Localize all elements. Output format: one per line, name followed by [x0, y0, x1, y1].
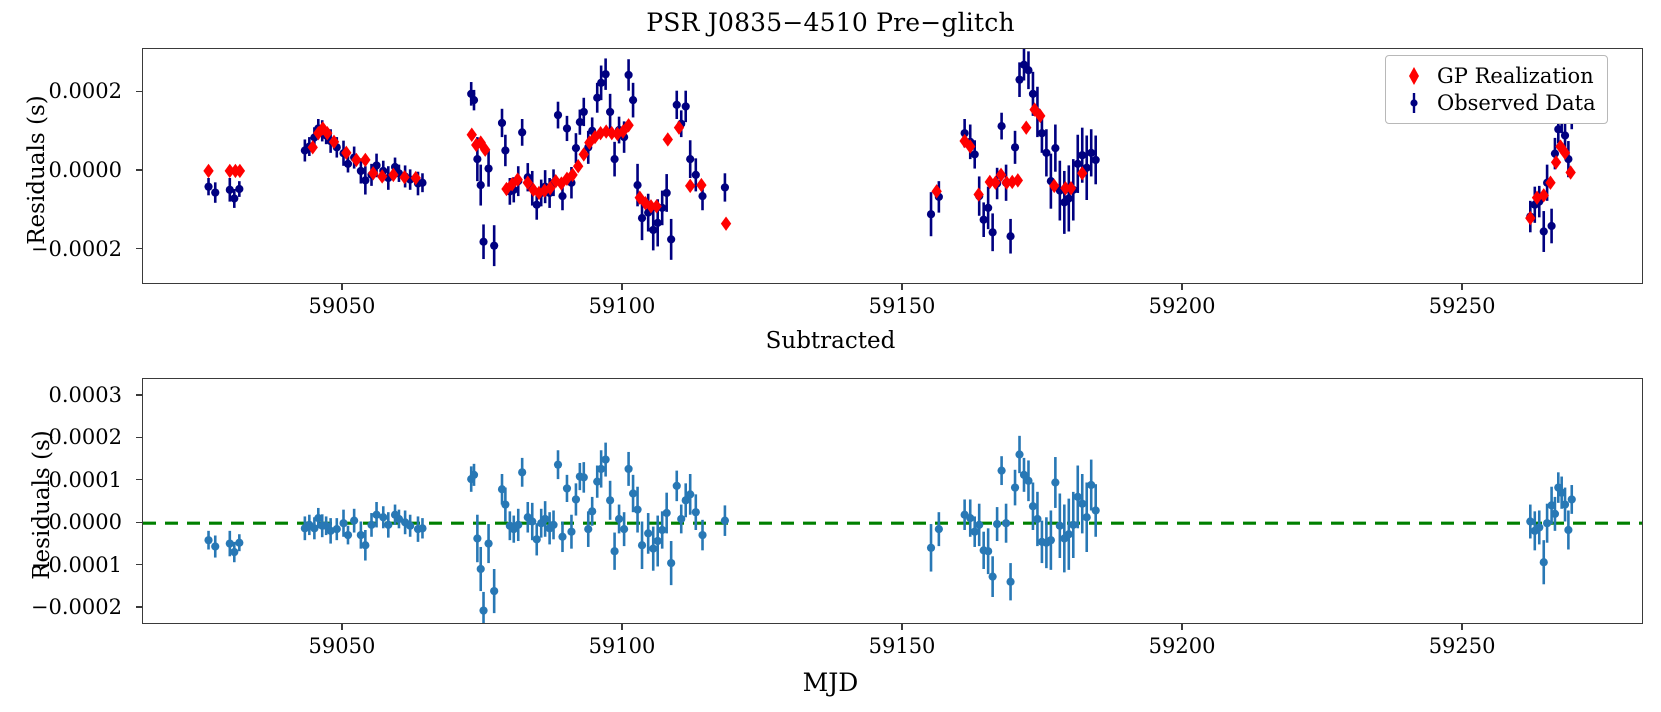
data-point — [673, 101, 681, 109]
data-point — [361, 176, 369, 184]
x-tick-mark — [1181, 624, 1182, 630]
data-point — [230, 194, 238, 202]
data-point — [501, 146, 509, 154]
data-point — [344, 160, 352, 168]
data-point — [1015, 450, 1023, 458]
data-point — [1069, 521, 1077, 529]
data-point — [1024, 477, 1032, 485]
data-point — [1051, 478, 1059, 486]
legend-label-gp-realization: GP Realization — [1431, 64, 1594, 88]
data-point — [484, 164, 492, 172]
data-point — [610, 155, 618, 163]
data-point — [1074, 493, 1082, 501]
data-point — [649, 226, 657, 234]
data-point — [1006, 232, 1014, 240]
data-point — [1065, 194, 1073, 202]
data-point — [226, 186, 234, 194]
y-tick-label: −0.0001 — [31, 553, 122, 577]
data-point — [1092, 156, 1100, 164]
data-point — [1029, 90, 1037, 98]
data-point — [514, 521, 522, 529]
data-point — [1002, 519, 1010, 527]
data-point — [572, 144, 580, 152]
data-point — [484, 539, 492, 547]
data-point — [528, 517, 536, 525]
data-point — [235, 185, 243, 193]
data-point — [629, 489, 637, 497]
data-point — [563, 484, 571, 492]
data-point — [501, 500, 509, 508]
series-subtracted-residuals — [204, 436, 1575, 624]
data-point — [211, 542, 219, 550]
data-point — [698, 531, 706, 539]
data-point — [1024, 66, 1032, 74]
data-point — [1564, 526, 1572, 534]
y-tick-label: 0.0003 — [49, 383, 122, 407]
data-point — [971, 528, 979, 536]
data-point — [633, 506, 641, 514]
data-point — [477, 181, 485, 189]
data-point — [498, 119, 506, 127]
x-tick-label: 59050 — [309, 634, 376, 658]
data-point — [624, 465, 632, 473]
data-point — [993, 520, 1001, 528]
data-point — [927, 544, 935, 552]
data-point — [406, 522, 414, 530]
data-point — [682, 102, 690, 110]
data-point — [518, 468, 526, 476]
data-point — [686, 490, 694, 498]
errorbar-point-icon — [1397, 90, 1431, 116]
data-point — [584, 525, 592, 533]
data-point-diamond — [203, 164, 213, 178]
x-tick-mark — [341, 624, 342, 630]
data-point — [558, 533, 566, 541]
data-point — [638, 214, 646, 222]
y-tick-label: 0.0001 — [49, 468, 122, 492]
data-point — [1092, 506, 1100, 514]
data-point — [624, 71, 632, 79]
data-point — [1551, 510, 1559, 518]
data-point — [1011, 143, 1019, 151]
data-point — [361, 541, 369, 549]
data-point — [470, 96, 478, 104]
data-point — [211, 188, 219, 196]
data-point — [1042, 149, 1050, 157]
x-tick-mark — [1181, 284, 1182, 290]
data-point — [677, 515, 685, 523]
data-point — [554, 461, 562, 469]
data-point — [1547, 222, 1555, 230]
x-tick-label: 59200 — [1149, 294, 1216, 318]
data-point — [1540, 558, 1548, 566]
x-axis-label: MJD — [0, 668, 1661, 697]
data-point — [204, 536, 212, 544]
data-point — [357, 167, 365, 175]
data-point — [470, 471, 478, 479]
data-point — [1015, 76, 1023, 84]
data-point-diamond — [696, 178, 706, 192]
data-point — [204, 183, 212, 191]
data-point-diamond — [1021, 120, 1031, 134]
data-point — [1087, 481, 1095, 489]
data-point — [989, 573, 997, 581]
data-point — [580, 108, 588, 116]
data-point — [975, 521, 983, 529]
data-point — [692, 171, 700, 179]
legend-item-gp-realization[interactable]: GP Realization — [1397, 62, 1596, 89]
data-point — [563, 124, 571, 132]
x-tick-label: 59150 — [869, 294, 936, 318]
data-point — [477, 565, 485, 573]
data-point — [473, 155, 481, 163]
data-point — [721, 183, 729, 191]
data-point — [533, 535, 541, 543]
data-point — [1083, 513, 1091, 521]
data-point — [418, 524, 426, 532]
data-point — [572, 495, 580, 503]
data-point — [935, 525, 943, 533]
data-point — [602, 455, 610, 463]
data-point-diamond — [1565, 165, 1575, 179]
data-point — [606, 108, 614, 116]
data-point — [333, 525, 341, 533]
data-point — [658, 526, 666, 534]
data-point — [1526, 517, 1534, 525]
data-point — [633, 181, 641, 189]
data-point — [549, 521, 557, 529]
data-point — [357, 531, 365, 539]
data-point — [1087, 149, 1095, 157]
bottom-panel-data-layer — [143, 379, 1643, 624]
data-point — [686, 155, 694, 163]
data-point — [620, 525, 628, 533]
data-point — [1006, 578, 1014, 586]
data-point — [1074, 160, 1082, 168]
data-point — [597, 79, 605, 87]
data-point — [644, 529, 652, 537]
x-tick-label: 59200 — [1149, 634, 1216, 658]
data-point — [235, 539, 243, 547]
data-point — [698, 192, 706, 200]
data-point-diamond — [721, 216, 731, 230]
data-point — [490, 242, 498, 250]
data-point — [479, 606, 487, 614]
data-point — [997, 122, 1005, 130]
data-point — [692, 508, 700, 516]
data-point-diamond — [1551, 155, 1561, 169]
y-tick-label: 0.0000 — [49, 510, 122, 534]
data-point — [989, 228, 997, 236]
y-tick-label: 0.0000 — [49, 158, 122, 182]
data-point — [673, 482, 681, 490]
x-tick-label: 59250 — [1429, 294, 1496, 318]
figure-canvas: PSR J0835−4510 Pre−glitch Residuals (s) … — [0, 0, 1661, 712]
x-tick-label: 59100 — [589, 634, 656, 658]
data-point — [606, 496, 614, 504]
data-point — [344, 531, 352, 539]
data-point — [1561, 131, 1569, 139]
x-tick-label: 59100 — [589, 294, 656, 318]
data-point — [667, 235, 675, 243]
data-point — [479, 238, 487, 246]
data-point — [379, 513, 387, 521]
diamond-marker-icon — [1397, 63, 1431, 89]
data-point — [1540, 227, 1548, 235]
data-point-diamond — [685, 179, 695, 193]
data-point — [1029, 502, 1037, 510]
x-tick-mark — [621, 284, 622, 290]
data-point — [473, 534, 481, 542]
legend-box[interactable]: GP Realization Observed Data — [1385, 55, 1608, 124]
x-tick-mark — [621, 624, 622, 630]
y-tick-label: −0.0002 — [31, 595, 122, 619]
data-point — [997, 467, 1005, 475]
x-tick-mark — [1461, 284, 1462, 290]
data-point — [638, 541, 646, 549]
data-point — [339, 519, 347, 527]
data-point — [580, 473, 588, 481]
data-point — [1056, 522, 1064, 530]
data-point — [490, 587, 498, 595]
data-point — [971, 150, 979, 158]
data-point — [1543, 519, 1551, 527]
data-point — [654, 537, 662, 545]
data-point — [927, 210, 935, 218]
data-point-diamond — [663, 132, 673, 146]
x-tick-label: 59050 — [309, 294, 376, 318]
data-point — [1033, 515, 1041, 523]
data-point-diamond — [973, 187, 983, 201]
data-point — [1051, 144, 1059, 152]
data-point — [1535, 523, 1543, 531]
data-point — [597, 465, 605, 473]
subtracted-panel-title: Subtracted — [0, 328, 1661, 354]
data-point — [980, 216, 988, 224]
x-tick-mark — [901, 624, 902, 630]
legend-item-observed-data[interactable]: Observed Data — [1397, 89, 1596, 116]
figure-title: PSR J0835−4510 Pre−glitch — [0, 8, 1661, 37]
data-point — [663, 189, 671, 197]
y-tick-label: 0.0002 — [49, 425, 122, 449]
data-point — [615, 515, 623, 523]
x-tick-mark — [901, 284, 902, 290]
series-observed-data — [204, 49, 1575, 266]
data-point — [518, 128, 526, 136]
data-point — [567, 528, 575, 536]
data-point — [649, 545, 657, 553]
data-point — [1011, 483, 1019, 491]
data-point — [588, 507, 596, 515]
x-tick-mark — [341, 284, 342, 290]
data-point — [629, 96, 637, 104]
data-point — [226, 539, 234, 547]
series-gp-realization — [203, 102, 1575, 230]
data-point — [966, 514, 974, 522]
data-point — [367, 521, 375, 529]
data-point — [654, 219, 662, 227]
data-point — [1078, 151, 1086, 159]
data-point — [350, 517, 358, 525]
data-point — [663, 509, 671, 517]
data-point — [1561, 500, 1569, 508]
data-point — [1047, 536, 1055, 544]
bottom-panel-plot-area[interactable] — [142, 378, 1643, 624]
y-tick-label: 0.0002 — [49, 79, 122, 103]
data-point — [1038, 129, 1046, 137]
data-point — [721, 517, 729, 525]
data-point — [1078, 500, 1086, 508]
data-point — [384, 521, 392, 529]
data-point — [533, 201, 541, 209]
data-point — [602, 70, 610, 78]
data-point — [984, 547, 992, 555]
data-point — [554, 111, 562, 119]
data-point — [610, 547, 618, 555]
data-point — [558, 192, 566, 200]
x-tick-label: 59150 — [869, 634, 936, 658]
data-point — [984, 204, 992, 212]
x-tick-label: 59250 — [1429, 634, 1496, 658]
data-point — [1065, 530, 1073, 538]
data-point — [667, 559, 675, 567]
data-point — [541, 515, 549, 523]
legend-label-observed-data: Observed Data — [1431, 91, 1596, 115]
x-tick-mark — [1461, 624, 1462, 630]
data-point — [1568, 495, 1576, 503]
data-point — [1551, 150, 1559, 158]
data-point — [230, 548, 238, 556]
y-tick-label: −0.0002 — [31, 237, 122, 261]
